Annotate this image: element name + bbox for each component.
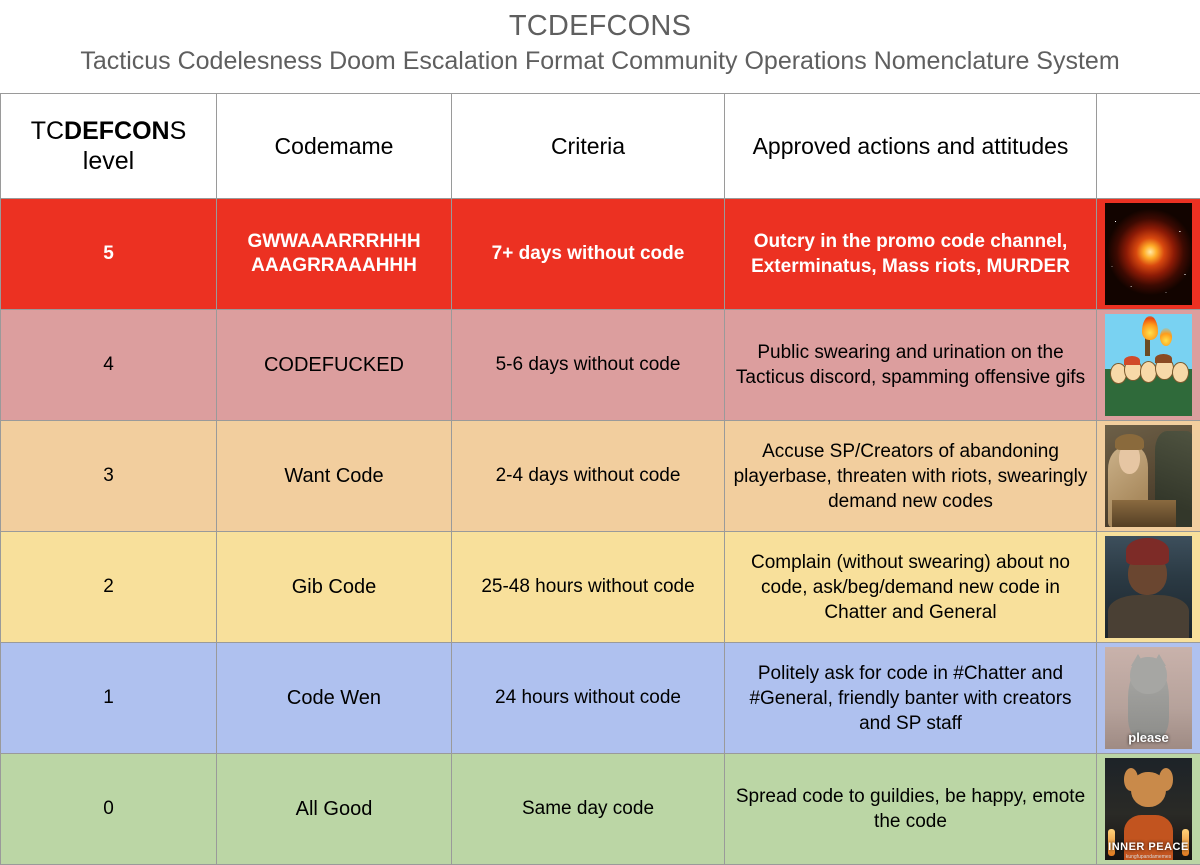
cell-level: 5 <box>1 199 217 310</box>
column-header-actions: Approved actions and attitudes <box>725 94 1097 199</box>
table-row: 2 Gib Code 25-48 hours without code Comp… <box>1 532 1200 643</box>
cell-codename: Want Code <box>217 421 452 532</box>
cell-image <box>1097 199 1200 310</box>
cell-level: 4 <box>1 310 217 421</box>
cell-codename: Code Wen <box>217 643 452 754</box>
crowd-hat <box>1155 354 1172 363</box>
cell-criteria: 25-48 hours without code <box>452 532 725 643</box>
cell-criteria: Same day code <box>452 754 725 865</box>
shifu-head <box>1131 772 1166 807</box>
cell-criteria: 2-4 days without code <box>452 421 725 532</box>
table-row: 3 Want Code 2-4 days without code Accuse… <box>1 421 1200 532</box>
cell-codename: CODEFUCKED <box>217 310 452 421</box>
page-subtitle: Tacticus Codelesness Doom Escalation For… <box>80 46 1119 77</box>
south-park-angry-mob-meme <box>1105 314 1192 416</box>
table-row: 0 All Good Same day code Spread code to … <box>1 754 1200 865</box>
crowd-hat <box>1124 356 1140 365</box>
cat-head <box>1130 657 1167 694</box>
table-row: 5 GWWAAARRRHHH AAAGRRAAAHHH 7+ days with… <box>1 199 1200 310</box>
table-row: 1 Code Wen 24 hours without code Politel… <box>1 643 1200 754</box>
cell-image <box>1097 310 1200 421</box>
cell-level: 0 <box>1 754 217 865</box>
table-row: 4 CODEFUCKED 5-6 days without code Publi… <box>1 310 1200 421</box>
flame-icon <box>1160 328 1172 346</box>
page-title: TCDEFCONS <box>509 9 691 43</box>
painting-hat <box>1115 434 1145 450</box>
column-header-criteria: Criteria <box>452 94 725 199</box>
cell-image: please <box>1097 643 1200 754</box>
meme-caption: please <box>1105 730 1192 745</box>
flame-icon <box>1142 316 1158 340</box>
table-body: 5 GWWAAARRRHHH AAAGRRAAAHHH 7+ days with… <box>1 199 1200 865</box>
cell-actions: Politely ask for code in #Chatter and #G… <box>725 643 1097 754</box>
master-shifu-inner-peace-meme: INNER PEACE kungfupandamemes <box>1105 758 1192 860</box>
cell-criteria: 7+ days without code <box>452 199 725 310</box>
cell-actions: Public swearing and urination on the Tac… <box>725 310 1097 421</box>
cell-actions: Complain (without swearing) about no cod… <box>725 532 1097 643</box>
level-header-second-line: level <box>83 147 134 175</box>
title-block: TCDEFCONS Tacticus Codelesness Doom Esca… <box>0 0 1200 93</box>
begging-cat-please-meme: please <box>1105 647 1192 749</box>
oil-painting-restrained-man-meme <box>1105 425 1192 527</box>
column-header-codename: Codemame <box>217 94 452 199</box>
cell-level: 3 <box>1 421 217 532</box>
level-header-prefix: TC <box>31 117 64 145</box>
chappelle-jacket <box>1108 595 1188 638</box>
level-header-suffix: S <box>170 117 187 145</box>
cell-image <box>1097 421 1200 532</box>
cell-level: 1 <box>1 643 217 754</box>
exploding-planet-exterminatus-meme <box>1105 203 1192 305</box>
level-header-bold: DEFCON <box>64 117 170 145</box>
cell-codename: GWWAAARRRHHH AAAGRRAAAHHH <box>217 199 452 310</box>
column-header-level: TCDEFCONS level <box>1 94 217 199</box>
chappelle-beanie <box>1126 538 1170 565</box>
cell-level: 2 <box>1 532 217 643</box>
chappelle-interview-meme <box>1105 536 1192 638</box>
cell-criteria: 5-6 days without code <box>452 310 725 421</box>
column-header-image <box>1097 94 1200 199</box>
cell-codename: All Good <box>217 754 452 865</box>
cell-actions: Spread code to guildies, be happy, emote… <box>725 754 1097 865</box>
meme-subcaption: kungfupandamemes <box>1105 854 1192 860</box>
meme-caption: INNER PEACE <box>1105 841 1192 853</box>
cell-image: INNER PEACE kungfupandamemes <box>1097 754 1200 865</box>
cell-codename: Gib Code <box>217 532 452 643</box>
painting-table <box>1112 500 1176 527</box>
crowd-head <box>1172 362 1189 383</box>
cell-actions: Outcry in the promo code channel, Exterm… <box>725 199 1097 310</box>
cell-criteria: 24 hours without code <box>452 643 725 754</box>
cell-actions: Accuse SP/Creators of abandoning playerb… <box>725 421 1097 532</box>
cell-image <box>1097 532 1200 643</box>
defcon-levels-table: TCDEFCONS level Codemame Criteria Approv… <box>0 93 1200 865</box>
table-header-row: TCDEFCONS level Codemame Criteria Approv… <box>1 94 1200 199</box>
